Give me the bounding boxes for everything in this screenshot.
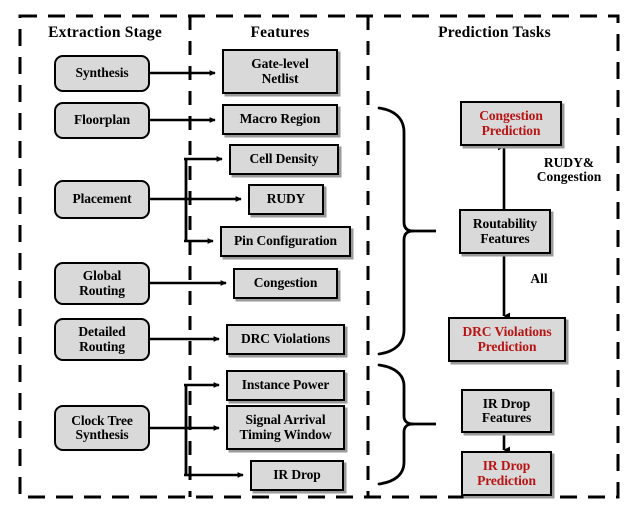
feature-macro-region[interactable]: Macro Region	[222, 104, 338, 135]
feature-congestion[interactable]: Congestion	[233, 268, 338, 299]
feature-cell-density-label: Cell Density	[250, 152, 319, 166]
task-ir-drop-prediction[interactable]: IR Drop Prediction	[461, 451, 552, 496]
task-drc-violations-prediction-label: DRC Violations Prediction	[463, 325, 552, 353]
stage-placement-label: Placement	[72, 192, 131, 206]
task-routability-features[interactable]: Routability Features	[459, 209, 551, 254]
stage-placement[interactable]: Placement	[54, 180, 150, 219]
feature-rudy-label: RUDY	[267, 192, 306, 206]
stage-floorplan[interactable]: Floorplan	[54, 102, 150, 139]
stage-global-routing-label: Global Routing	[79, 269, 125, 297]
feature-rudy[interactable]: RUDY	[248, 184, 324, 215]
feature-drc-violations-label: DRC Violations	[241, 332, 330, 346]
stage-detailed-routing[interactable]: Detailed Routing	[54, 318, 150, 361]
task-ir-drop-features[interactable]: IR Drop Features	[461, 389, 552, 433]
feature-ir-drop[interactable]: IR Drop	[250, 460, 344, 491]
stage-floorplan-label: Floorplan	[74, 113, 130, 127]
feature-gate-level-netlist-label: Gate-level Netlist	[251, 57, 308, 85]
feature-pin-configuration-label: Pin Configuration	[234, 234, 337, 248]
feature-gate-level-netlist[interactable]: Gate-level Netlist	[222, 49, 338, 94]
stage-global-routing[interactable]: Global Routing	[54, 262, 150, 305]
task-ir-drop-prediction-label: IR Drop Prediction	[477, 459, 536, 487]
feature-instance-power[interactable]: Instance Power	[226, 370, 345, 401]
stage-detailed-routing-label: Detailed Routing	[78, 325, 125, 353]
header-extraction-stage: Extraction Stage	[20, 24, 190, 42]
feature-drc-violations[interactable]: DRC Violations	[226, 324, 345, 355]
feature-congestion-label: Congestion	[254, 276, 318, 290]
task-congestion-prediction[interactable]: Congestion Prediction	[460, 101, 562, 146]
edge-label-all: All	[516, 272, 562, 286]
task-routability-features-label: Routability Features	[473, 217, 537, 245]
task-drc-violations-prediction[interactable]: DRC Violations Prediction	[448, 317, 566, 362]
feature-macro-region-label: Macro Region	[240, 112, 321, 126]
brace-ir-drop-features	[379, 365, 413, 484]
stage-clock-tree-synthesis[interactable]: Clock Tree Synthesis	[54, 405, 150, 451]
feature-cell-density[interactable]: Cell Density	[229, 144, 339, 175]
feature-instance-power-label: Instance Power	[242, 378, 329, 392]
feature-signal-arrival-timing-window-label: Signal Arrival Timing Window	[239, 413, 331, 441]
header-features: Features	[193, 24, 367, 42]
stage-clock-tree-synthesis-label: Clock Tree Synthesis	[71, 414, 133, 442]
brace-routability-features	[379, 108, 413, 354]
diagram-canvas: Extraction Stage Features Prediction Tas…	[0, 0, 636, 520]
edge-label-rudy-congestion: RUDY& Congestion	[516, 156, 622, 185]
stage-synthesis-label: Synthesis	[75, 66, 128, 80]
feature-signal-arrival-timing-window[interactable]: Signal Arrival Timing Window	[226, 405, 345, 450]
task-congestion-prediction-label: Congestion Prediction	[479, 109, 543, 137]
task-ir-drop-features-label: IR Drop Features	[482, 397, 531, 425]
stage-synthesis[interactable]: Synthesis	[54, 55, 150, 92]
feature-pin-configuration[interactable]: Pin Configuration	[220, 226, 351, 257]
header-prediction-tasks: Prediction Tasks	[371, 24, 618, 42]
feature-ir-drop-label: IR Drop	[273, 468, 320, 482]
